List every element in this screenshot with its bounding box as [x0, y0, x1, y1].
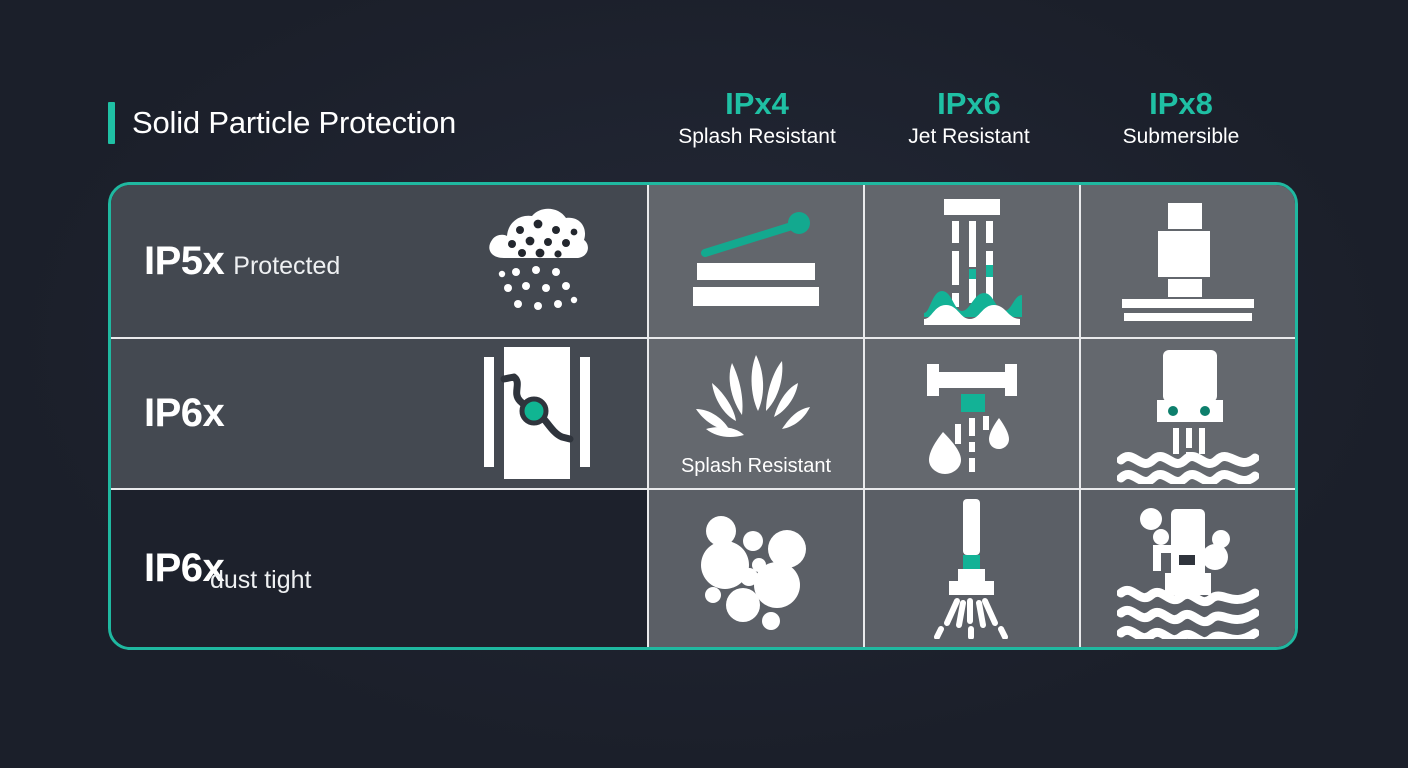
title-accent-bar	[108, 102, 115, 144]
row-note: dust tight	[210, 566, 311, 595]
row-note: Protected	[233, 252, 340, 281]
cell-ip5x-ipx8	[1081, 185, 1295, 339]
column-code-ipx6: IPx6	[863, 86, 1075, 122]
pipe-jet-icon	[907, 348, 1037, 478]
shower-spray-icon	[906, 195, 1038, 327]
column-code-ipx4: IPx4	[651, 86, 863, 122]
cell-ip6x-ipx8	[1081, 339, 1295, 490]
cell-caption: Splash Resistant	[681, 455, 831, 478]
sprinkler-nozzle-icon	[911, 497, 1033, 639]
column-sub-ipx6: Jet Resistant	[863, 122, 1075, 152]
row-label-ip6x-dust-tight: IP6x dust tight	[111, 490, 649, 647]
device-on-surface-icon	[1118, 199, 1258, 323]
device-in-water-icon	[1117, 342, 1259, 484]
water-splash-icon	[686, 349, 826, 449]
row-label-ip5x: IP5x Protected	[111, 185, 649, 339]
table-row: IP5x Protected	[111, 185, 1295, 339]
row-label-text: IP5x Protected	[144, 239, 340, 284]
row-code: IP6x	[144, 391, 224, 436]
bubbles-icon	[691, 505, 821, 631]
row-label-text: IP6x dust tight	[144, 546, 224, 591]
page-title: Solid Particle Protection	[108, 86, 651, 148]
column-headers: IPx4 Splash Resistant IPx6 Jet Resistant…	[651, 86, 1298, 152]
matrix-grid: IP5x Protected	[111, 185, 1295, 647]
dust-cloud-icon	[482, 196, 592, 326]
row-label-text: IP6x	[144, 391, 233, 436]
column-sub-ipx4: Splash Resistant	[651, 122, 863, 152]
needle-probe-icon	[691, 207, 821, 315]
column-header-ipx8: IPx8 Submersible	[1075, 86, 1287, 152]
cell-ip5x-ipx4	[649, 185, 865, 339]
column-header-ipx6: IPx6 Jet Resistant	[863, 86, 1075, 152]
row-code: IP5x	[144, 239, 224, 284]
cell-ip6x-ipx6	[865, 339, 1081, 490]
cell-ip6x-dust-ipx6	[865, 490, 1081, 647]
cell-ip6x-dust-ipx8	[1081, 490, 1295, 647]
submerged-device-icon	[1117, 497, 1259, 639]
column-code-ipx8: IPx8	[1075, 86, 1287, 122]
cell-ip5x-ipx6	[865, 185, 1081, 339]
page-title-text: Solid Particle Protection	[132, 105, 456, 141]
ip-rating-matrix: IP5x Protected	[108, 182, 1298, 650]
column-sub-ipx8: Submersible	[1075, 122, 1287, 152]
wire-panel-icon	[482, 343, 592, 483]
column-header-ipx4: IPx4 Splash Resistant	[651, 86, 863, 152]
infographic-root: Solid Particle Protection IPx4 Splash Re…	[0, 0, 1408, 768]
cell-ip6x-ipx4: Splash Resistant	[649, 339, 865, 490]
table-row: IP6x	[111, 339, 1295, 490]
row-label-ip6x: IP6x	[111, 339, 649, 490]
cell-ip6x-dust-ipx4	[649, 490, 865, 647]
header: Solid Particle Protection IPx4 Splash Re…	[108, 86, 1298, 178]
table-row: IP6x dust tight	[111, 490, 1295, 647]
